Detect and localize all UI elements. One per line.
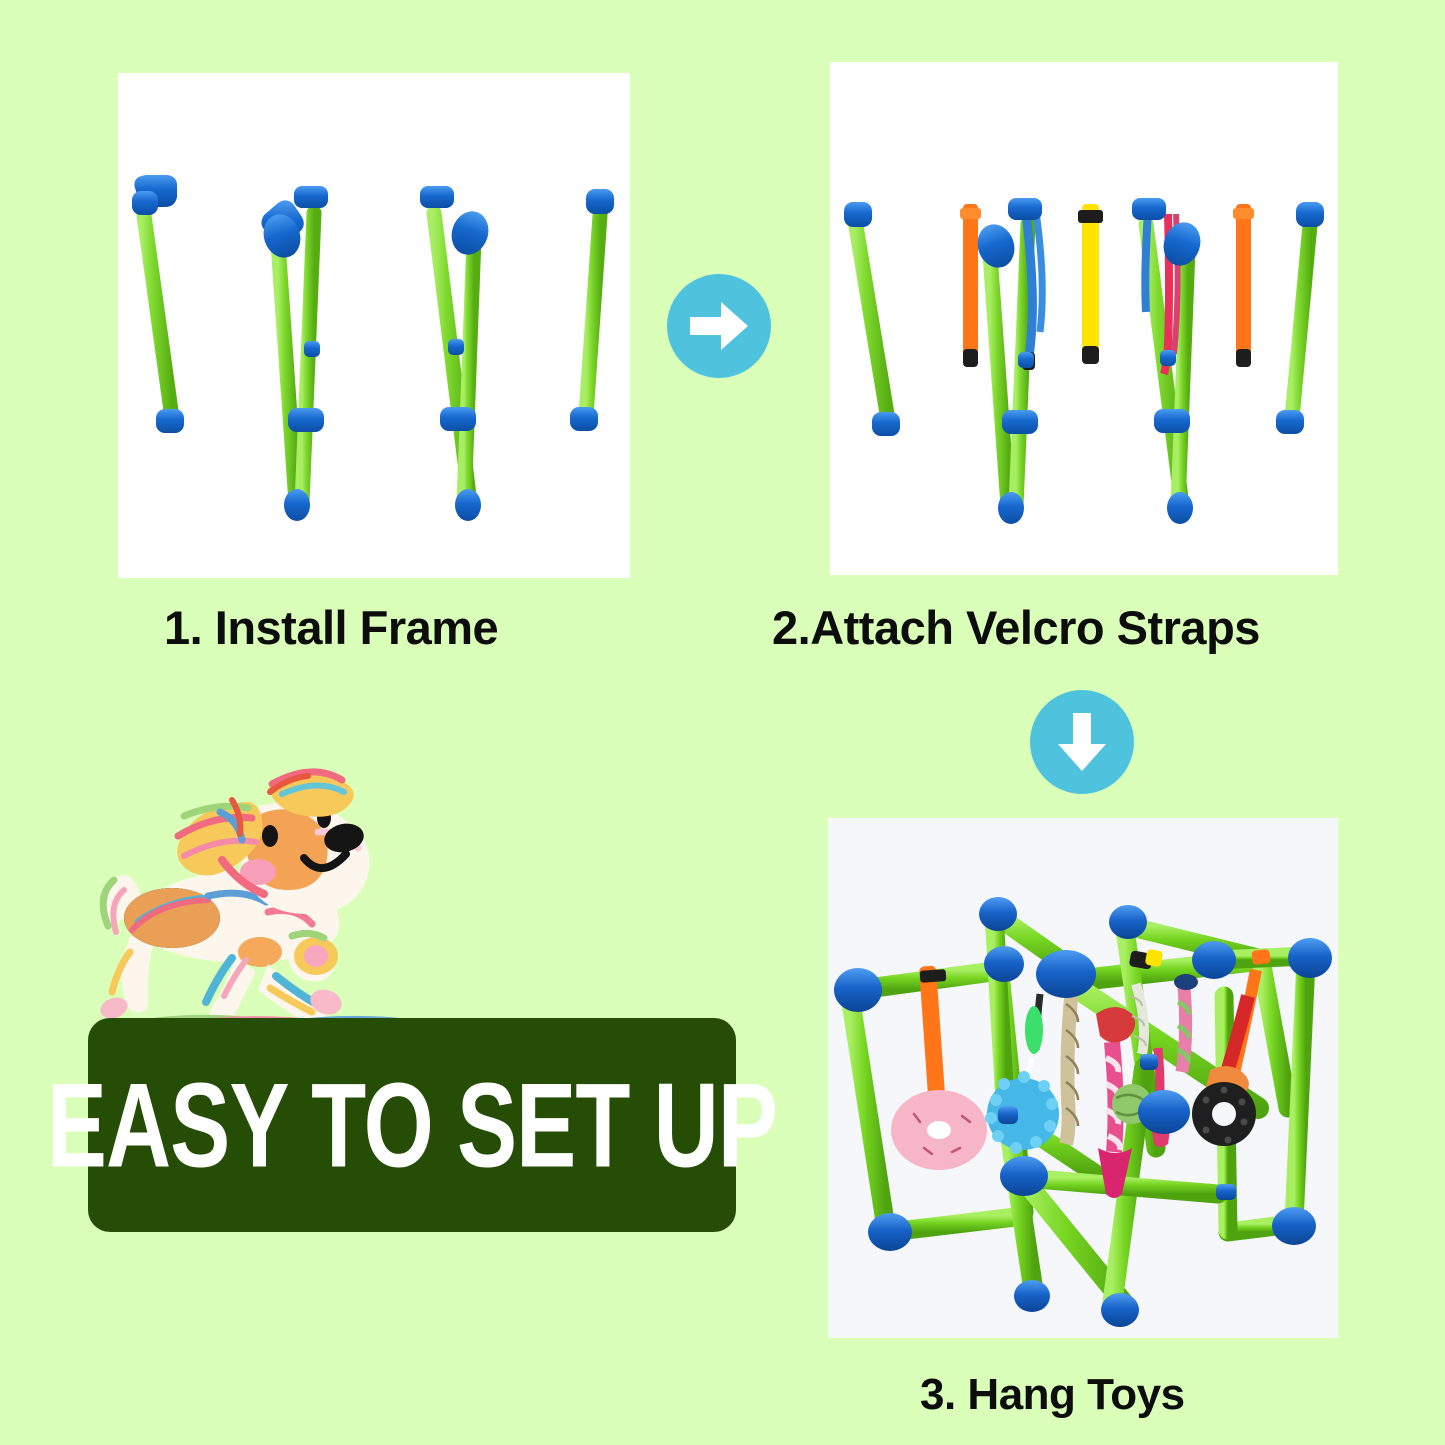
right-arrow-glyph — [688, 298, 750, 354]
banner-text: EASY TO SET UP — [47, 1056, 777, 1194]
frame-with-toys-illustration — [828, 818, 1338, 1338]
frame-illustration — [118, 73, 630, 578]
step-3-photo — [828, 818, 1338, 1338]
easy-to-set-up-banner: EASY TO SET UP — [88, 1018, 736, 1232]
step-2-caption: 2.Attach Velcro Straps — [772, 600, 1260, 655]
step-1-photo — [118, 73, 630, 578]
step-2-photo — [830, 62, 1338, 575]
running-dog-illustration — [72, 740, 402, 1040]
infographic-root: 1. Install Frame — [0, 0, 1445, 1445]
dog-svg — [72, 740, 402, 1040]
right-arrow-icon — [667, 274, 771, 378]
down-arrow-glyph — [1054, 711, 1110, 773]
down-arrow-icon — [1030, 690, 1134, 794]
frame-with-straps-illustration — [830, 62, 1338, 575]
step-1-caption: 1. Install Frame — [164, 600, 498, 655]
step-3-caption: 3. Hang Toys — [920, 1370, 1185, 1420]
